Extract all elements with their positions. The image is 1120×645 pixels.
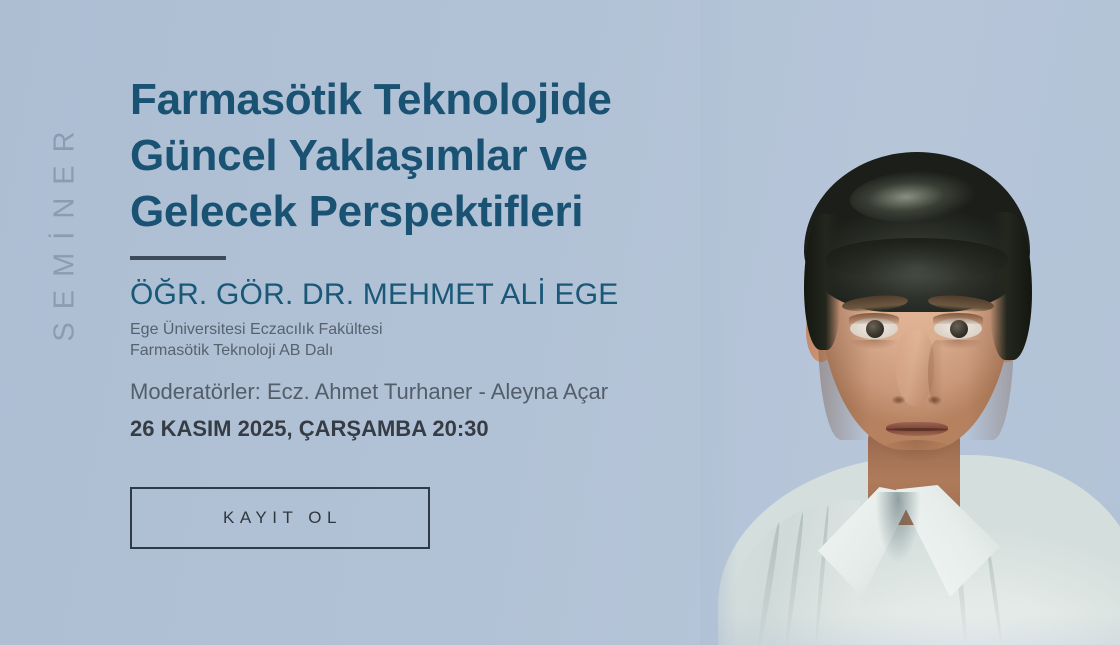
speaker-portrait-photo (700, 0, 1120, 645)
content-column: Farmasötik Teknolojide Güncel Yaklaşımla… (130, 72, 750, 442)
speaker-affiliation-line-2: Farmasötik Teknoloji AB Dalı (130, 340, 750, 361)
seminar-category-label: SEMİNER (44, 55, 86, 405)
page-title-line-1: Farmasötik Teknolojide (130, 72, 750, 128)
portrait-eyelid-right (933, 313, 983, 324)
seminar-announcement-banner: SEMİNER Farmasötik Teknolojide Güncel Ya… (0, 0, 1120, 645)
portrait-collar-shadow (876, 492, 920, 562)
page-title-line-3: Gelecek Perspektifleri (130, 184, 750, 240)
moderators-text: Moderatörler: Ecz. Ahmet Turhaner - Aley… (130, 378, 750, 405)
page-title-line-2: Güncel Yaklaşımlar ve (130, 128, 750, 184)
page-title: Farmasötik Teknolojide Güncel Yaklaşımla… (130, 72, 750, 240)
register-button-label: KAYIT OL (218, 508, 342, 528)
portrait-eyelid-left (849, 313, 899, 324)
portrait-nostril-right (928, 396, 941, 404)
portrait-undereye-left (850, 340, 898, 349)
portrait-mouth-line (886, 428, 948, 431)
event-date-text: 26 KASIM 2025, ÇARŞAMBA 20:30 (130, 415, 750, 442)
divider (130, 256, 226, 260)
portrait-chin-shadow (880, 440, 954, 462)
portrait-nostril-left (892, 396, 905, 404)
speaker-affiliation-line-1: Ege Üniversitesi Eczacılık Fakültesi (130, 319, 750, 340)
register-button[interactable]: KAYIT OL (130, 487, 430, 549)
speaker-affiliation: Ege Üniversitesi Eczacılık Fakültesi Far… (130, 319, 750, 361)
speaker-name: ÖĞR. GÖR. DR. MEHMET ALİ EGE (130, 277, 750, 313)
seminar-category-label-text: SEMİNER (49, 118, 82, 341)
portrait-hair-side-left (804, 214, 840, 350)
portrait-hairline (826, 238, 1008, 278)
